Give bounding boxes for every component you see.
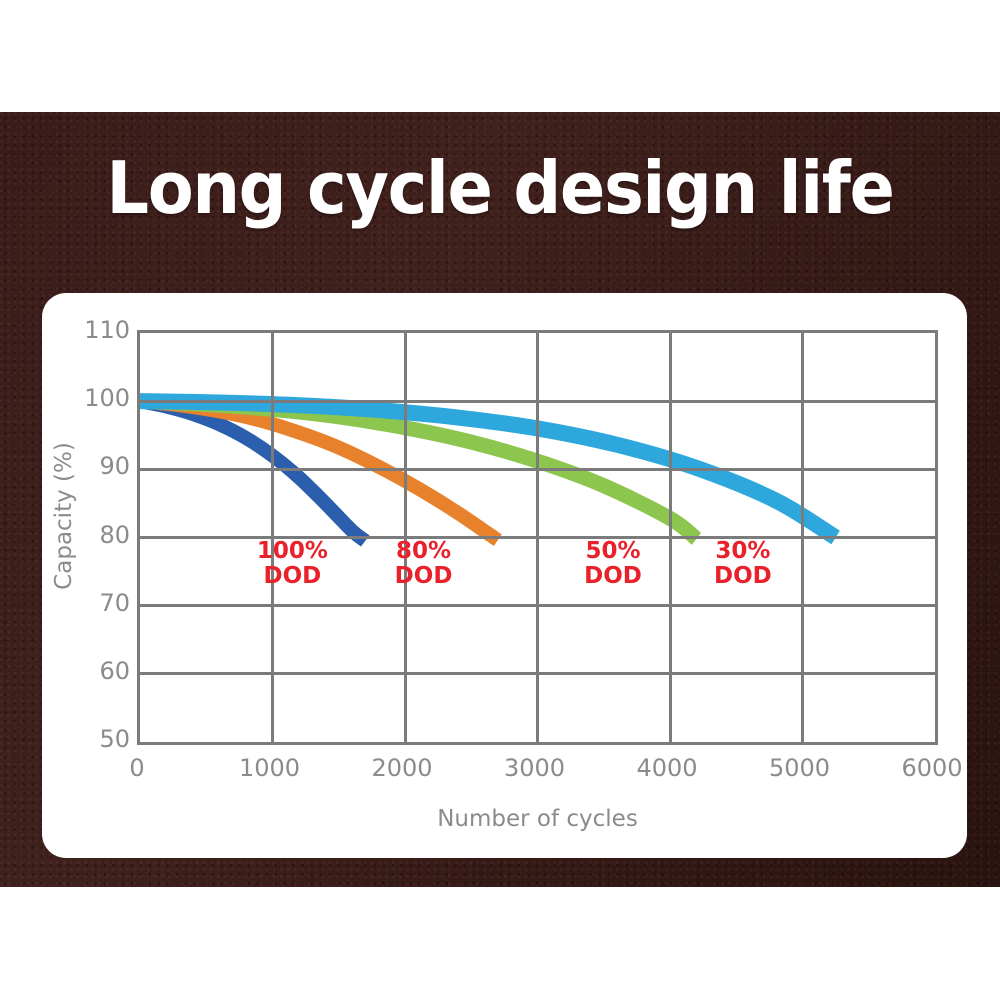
y-tick-label: 100 [84, 384, 130, 412]
annotation-percent: 30% [714, 539, 772, 563]
annotation-dod: DOD [714, 564, 772, 588]
x-tick-label: 4000 [636, 754, 697, 782]
chart: Capacity (%) 1101009080706050 100%DOD80%… [42, 293, 967, 858]
x-tick-label: 6000 [901, 754, 962, 782]
x-tick-label: 0 [129, 754, 144, 782]
x-axis-tick-labels: 0100020003000400050006000 [137, 754, 938, 788]
gridline-horizontal [140, 468, 935, 471]
annotation-percent: 100% [257, 539, 328, 563]
y-tick-label: 90 [99, 452, 130, 480]
annotation-80-dod: 80%DOD [395, 539, 453, 588]
x-axis-title: Number of cycles [137, 806, 938, 832]
annotation-30-dod: 30%DOD [714, 539, 772, 588]
x-tick-label: 3000 [504, 754, 565, 782]
plot-area: 100%DOD80%DOD50%DOD30%DOD [137, 330, 938, 745]
chart-card: Capacity (%) 1101009080706050 100%DOD80%… [42, 293, 967, 858]
gridline-horizontal [140, 672, 935, 675]
page-title: Long cycle design life [35, 152, 965, 224]
y-tick-label: 70 [99, 589, 130, 617]
annotation-dod: DOD [395, 564, 453, 588]
y-tick-label: 110 [84, 316, 130, 344]
y-tick-label: 80 [99, 521, 130, 549]
x-tick-label: 2000 [371, 754, 432, 782]
annotation-percent: 50% [584, 539, 642, 563]
annotation-100-dod: 100%DOD [257, 539, 328, 588]
annotation-dod: DOD [257, 564, 328, 588]
y-axis-tick-labels: 1101009080706050 [68, 330, 130, 745]
y-tick-label: 50 [99, 725, 130, 753]
annotation-dod: DOD [584, 564, 642, 588]
y-tick-label: 60 [99, 657, 130, 685]
screenshot-root: Long cycle design life Capacity (%) 1101… [0, 0, 1000, 1000]
x-tick-label: 1000 [239, 754, 300, 782]
annotation-50-dod: 50%DOD [584, 539, 642, 588]
gridline-horizontal [140, 400, 935, 403]
gridline-horizontal [140, 604, 935, 607]
annotation-percent: 80% [395, 539, 453, 563]
x-tick-label: 5000 [769, 754, 830, 782]
